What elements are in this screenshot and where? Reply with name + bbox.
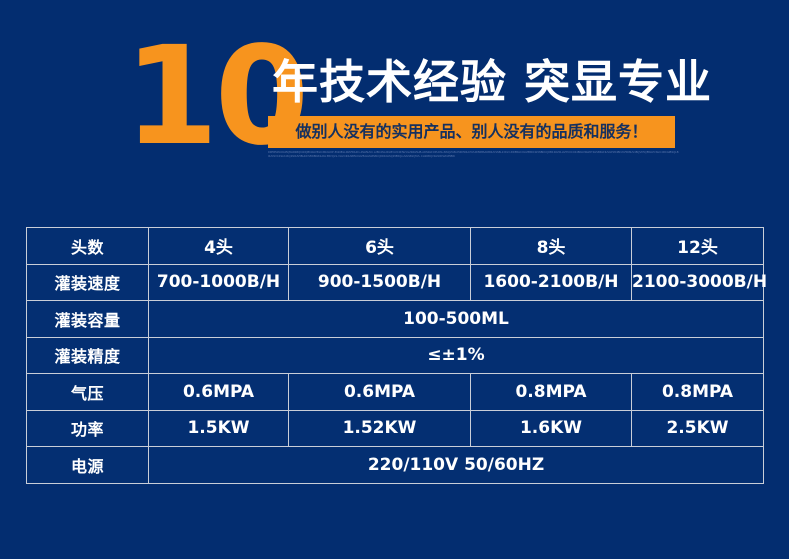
table-cell: 4头 (149, 228, 289, 265)
table-row: 灌装速度 700-1000B/H 900-1500B/H 1600-2100B/… (27, 264, 764, 301)
row-label: 电源 (27, 447, 149, 484)
spec-table-body: 头数 4头 6头 8头 12头 灌装速度 700-1000B/H 900-150… (27, 228, 764, 484)
table-cell: 900-1500B/H (289, 264, 471, 301)
row-label: 头数 (27, 228, 149, 265)
table-cell: 1.52KW (289, 410, 471, 447)
row-label: 灌装速度 (27, 264, 149, 301)
table-cell: 0.8MPA (632, 374, 764, 411)
table-cell: 1.5KW (149, 410, 289, 447)
table-row: 灌装精度 ≤±1% (27, 337, 764, 374)
subhead-banner: 做别人没有的实用产品、别人没有的品质和服务！ (268, 116, 675, 148)
table-cell: 0.8MPA (471, 374, 632, 411)
row-label: 灌装精度 (27, 337, 149, 374)
table-cell: 0.6MPA (149, 374, 289, 411)
table-cell: ≤±1% (149, 337, 764, 374)
table-row: 头数 4头 6头 8头 12头 (27, 228, 764, 265)
row-label: 功率 (27, 410, 149, 447)
table-cell: 1600-2100B/H (471, 264, 632, 301)
hero-section: 10 年技术经验 突显专业 做别人没有的实用产品、别人没有的品质和服务！ DM5… (0, 0, 789, 200)
row-label: 气压 (27, 374, 149, 411)
table-cell: 100-500ML (149, 301, 764, 338)
table-cell: 8头 (471, 228, 632, 265)
table-cell: 1.6KW (471, 410, 632, 447)
page-title: 年技术经验 突显专业 (272, 53, 684, 111)
table-cell: 6头 (289, 228, 471, 265)
table-cell: 700-1000B/H (149, 264, 289, 301)
specification-table: 头数 4头 6头 8头 12头 灌装速度 700-1000B/H 900-150… (26, 227, 764, 484)
fineprint-text: DM55526C0445Q5HR4BQK4NQB6I4HV5GK4510HOP-… (268, 151, 680, 177)
table-cell: 220/110V 50/60HZ (149, 447, 764, 484)
table-cell: 0.6MPA (289, 374, 471, 411)
row-label: 灌装容量 (27, 301, 149, 338)
table-row: 功率 1.5KW 1.52KW 1.6KW 2.5KW (27, 410, 764, 447)
table-cell: 2100-3000B/H (632, 264, 764, 301)
table-row: 气压 0.6MPA 0.6MPA 0.8MPA 0.8MPA (27, 374, 764, 411)
promo-banner-page: 10 年技术经验 突显专业 做别人没有的实用产品、别人没有的品质和服务！ DM5… (0, 0, 789, 559)
table-row: 灌装容量 100-500ML (27, 301, 764, 338)
table-cell: 2.5KW (632, 410, 764, 447)
table-cell: 12头 (632, 228, 764, 265)
years-number: 10 (124, 34, 274, 164)
subhead-text: 做别人没有的实用产品、别人没有的品质和服务！ (268, 116, 675, 148)
table-row: 电源 220/110V 50/60HZ (27, 447, 764, 484)
